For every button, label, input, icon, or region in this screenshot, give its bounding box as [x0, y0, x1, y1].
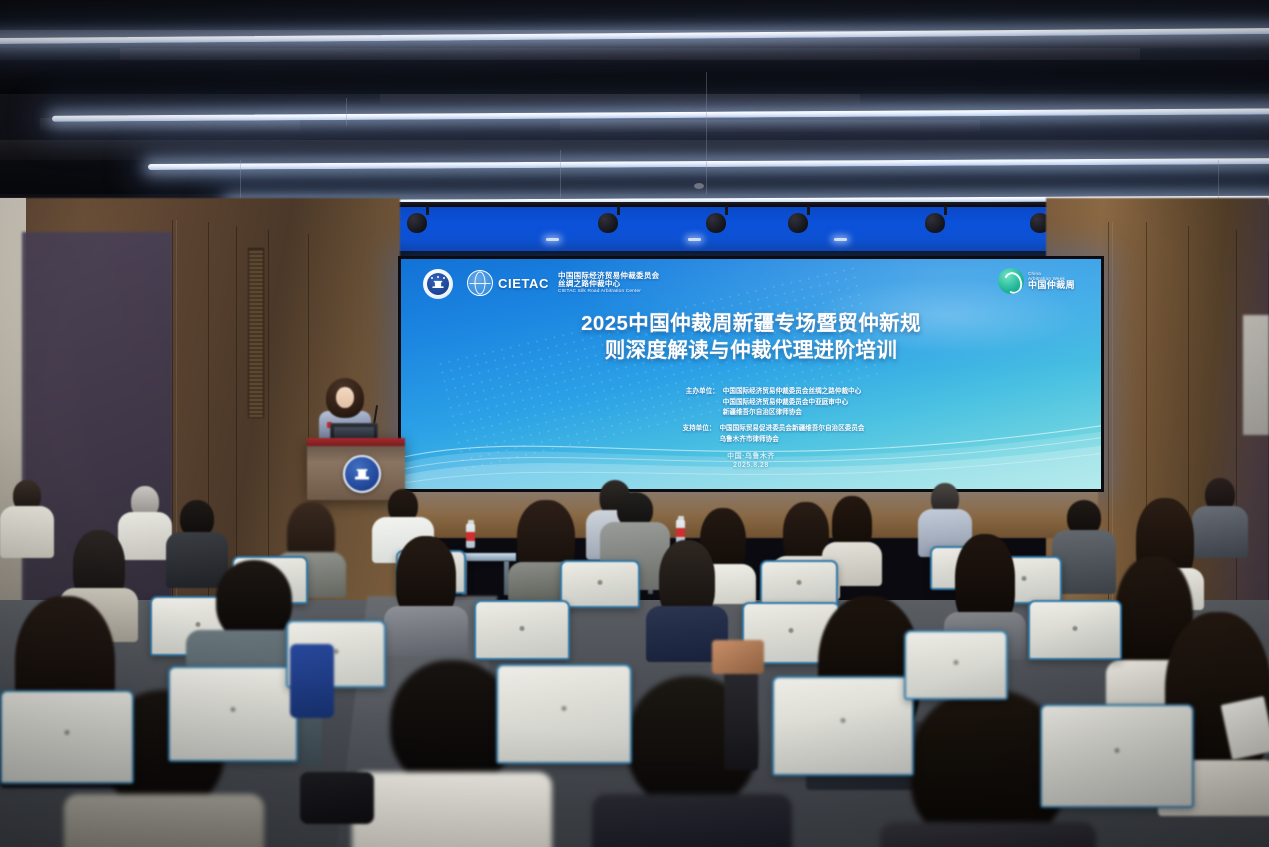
recessed-downlight — [546, 238, 559, 241]
ceiling-duct — [560, 120, 980, 132]
ceiling-beam — [0, 60, 1269, 94]
slide-place: 中国·乌鲁木齐 — [401, 452, 1101, 461]
cietac-seal-icon — [423, 269, 453, 299]
backpack — [290, 644, 334, 718]
track-spotlight — [935, 206, 955, 233]
arbitration-week-globe-icon — [998, 268, 1024, 294]
host-value: 中国国际经济贸易仲裁委员会中亚庭审中心 — [723, 398, 861, 409]
wall-seam — [1236, 230, 1237, 626]
ventilation-grille — [248, 248, 264, 418]
recessed-downlight — [834, 238, 847, 241]
china-arbitration-week-logo: China Arbitration Week 中国仲裁周 — [998, 268, 1075, 294]
slide-title-line-1: 2025中国仲裁周新疆专场暨贸仲新规 — [401, 311, 1101, 338]
auditorium-seat — [168, 666, 298, 762]
screen-logo-row: CIETAC 中国国际经济贸易仲裁委员会 丝绸之路仲裁中心 CIETAC Sil… — [401, 267, 1101, 301]
cietac-en-name: CIETAC Silk Road Arbitration Center — [558, 289, 659, 294]
cietac-cn-line2: 丝绸之路仲裁中心 — [558, 280, 659, 288]
slide-footer: 中国·乌鲁木齐 2025.8.28 — [401, 452, 1101, 471]
patterned-bag — [712, 640, 764, 674]
auditorium-seat — [474, 600, 570, 660]
track-spotlight — [417, 206, 437, 233]
slide-title-line-2: 则深度解读与仲裁代理进阶培训 — [401, 338, 1101, 365]
auditorium-seat — [0, 690, 134, 784]
ceiling-beam — [0, 0, 1269, 30]
wall-right-panel — [1243, 315, 1269, 435]
support-row: 支持单位： 中国国际贸易促进委员会新疆维吾尔自治区委员会 乌鲁木齐市律师协会 — [401, 424, 1101, 445]
track-spotlight — [608, 206, 628, 233]
conference-hall-photo: CIETAC 中国国际经济贸易仲裁委员会 丝绸之路仲裁中心 CIETAC Sil… — [0, 0, 1269, 847]
track-spotlight — [798, 206, 818, 233]
support-value: 中国国际贸易促进委员会新疆维吾尔自治区委员会 — [719, 424, 864, 435]
caw-cn-name: 中国仲裁周 — [1028, 281, 1075, 291]
recessed-downlight — [688, 238, 701, 241]
host-value: 新疆维吾尔自治区律师协会 — [723, 408, 861, 419]
hanging-wire — [706, 72, 707, 194]
cietac-logo: CIETAC 中国国际经济贸易仲裁委员会 丝绸之路仲裁中心 CIETAC Sil… — [467, 270, 659, 296]
cietac-chinese-name: 中国国际经济贸易仲裁委员会 丝绸之路仲裁中心 CIETAC Silk Road … — [558, 272, 659, 294]
auditorium-seat — [496, 664, 632, 764]
auditorium-seat — [1028, 600, 1122, 660]
auditorium-seat — [904, 630, 1008, 700]
bag — [300, 772, 374, 824]
slide-organizers: 主办单位： 中国国际经济贸易仲裁委员会丝绸之路仲裁中心 中国国际经济贸易仲裁委员… — [401, 387, 1101, 445]
smoke-detector-icon — [694, 183, 704, 189]
cietac-wordmark: CIETAC — [498, 277, 549, 290]
audience-member — [384, 536, 468, 654]
host-label: 主办单位： — [641, 387, 719, 419]
support-label: 支持单位： — [637, 424, 715, 445]
host-row: 主办单位： 中国国际经济贸易仲裁委员会丝绸之路仲裁中心 中国国际经济贸易仲裁委员… — [401, 387, 1101, 419]
projection-screen: CIETAC 中国国际经济贸易仲裁委员会 丝绸之路仲裁中心 CIETAC Sil… — [398, 256, 1104, 492]
audience-member — [0, 480, 54, 558]
slide-title: 2025中国仲裁周新疆专场暨贸仲新规 则深度解读与仲裁代理进阶培训 — [401, 311, 1101, 364]
hanging-wire — [560, 150, 561, 198]
lanyard-strap — [724, 660, 758, 770]
globe-icon — [467, 270, 493, 296]
hanging-wire — [240, 160, 241, 202]
support-value: 乌鲁木齐市律师协会 — [719, 435, 864, 446]
hanging-wire — [346, 98, 347, 126]
slide-date: 2025.8.28 — [401, 461, 1101, 470]
auditorium-seat — [1040, 704, 1194, 808]
cietac-emblem-icon — [343, 455, 381, 493]
auditorium-seat — [560, 560, 640, 608]
track-spotlight — [716, 206, 736, 233]
host-value: 中国国际经济贸易仲裁委员会丝绸之路仲裁中心 — [723, 387, 861, 398]
auditorium-seat — [772, 676, 914, 776]
